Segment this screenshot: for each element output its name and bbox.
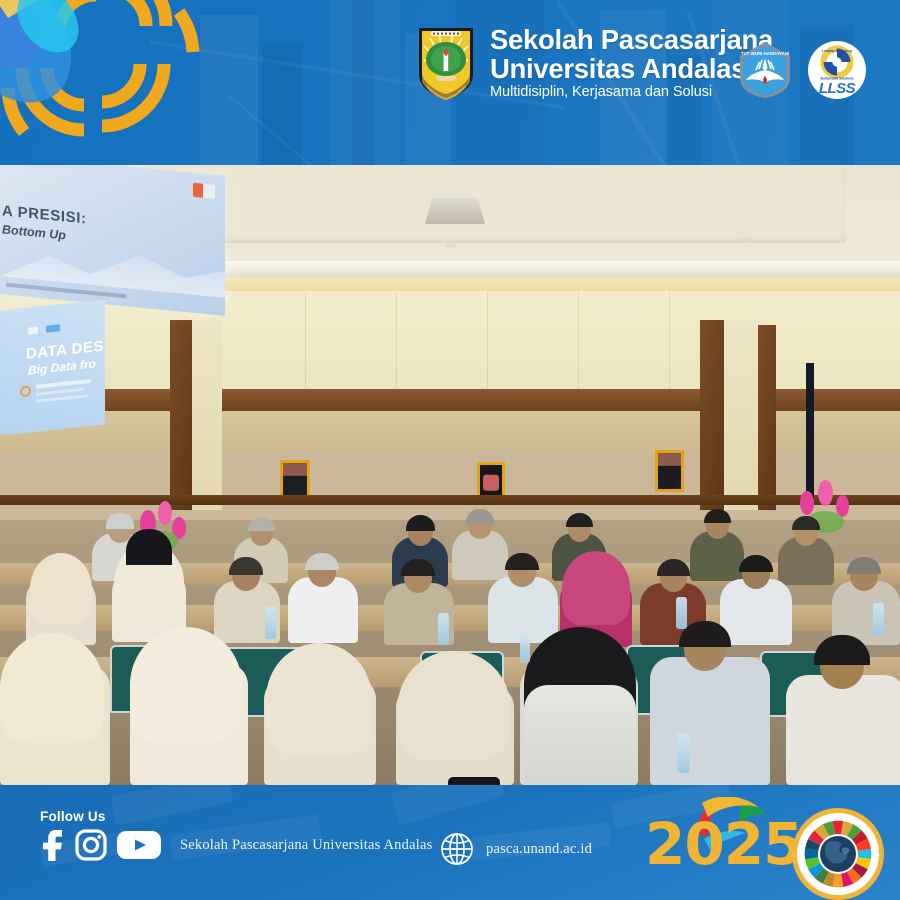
poster-footer: Follow Us Sekolah Pascasarjana Universit…: [0, 785, 900, 900]
website-url-text: pasca.unand.ac.id: [486, 841, 592, 858]
sdg-wheel-logo-icon: [790, 806, 886, 900]
header-title-line1: Sekolah Pascasarjana: [490, 26, 773, 54]
wall-segment: [192, 320, 222, 510]
swirl-decor-icon: [0, 0, 234, 165]
llss-logo-icon: Leading & Learning Sustainable Solutions…: [807, 40, 867, 100]
social-handle-text: Sekolah Pascasarjana Universitas Andalas: [180, 837, 432, 854]
universitas-andalas-crest-icon: [415, 24, 477, 102]
water-bottle: [265, 607, 276, 639]
youtube-icon[interactable]: [116, 829, 162, 861]
water-bottle: [873, 603, 884, 635]
wall-baseboard: [0, 495, 900, 505]
bag: [448, 777, 500, 785]
tut-wuri-handayani-logo-icon: TUT WURI HANDAYANI: [735, 40, 795, 100]
year-label: 2025: [645, 815, 802, 873]
slide-logo-icon: [193, 183, 215, 199]
ceiling-downlight: [742, 237, 753, 242]
ceiling-light-fixture: [425, 198, 485, 224]
header-brand-block: Sekolah Pascasarjana Universitas Andalas…: [415, 24, 773, 102]
left-projection-screen: A PRESISI: Bottom Up: [0, 165, 225, 316]
svg-text:LLSS: LLSS: [819, 80, 856, 97]
header-title-group: Sekolah Pascasarjana Universitas Andalas…: [490, 26, 773, 100]
poster-canvas: Sekolah Pascasarjana Universitas Andalas…: [0, 0, 900, 900]
wall-column: [170, 320, 192, 510]
svg-text:Leading & Learning: Leading & Learning: [822, 49, 852, 53]
water-bottle: [520, 635, 530, 663]
svg-text:TUT WURI HANDAYANI: TUT WURI HANDAYANI: [741, 51, 789, 56]
wall-column: [700, 320, 724, 510]
right-projection-screen: DATA DES Big Data fro: [0, 299, 105, 435]
globe-icon[interactable]: [440, 832, 474, 866]
follow-us-label: Follow Us: [40, 809, 106, 824]
ceiling-downlight: [445, 243, 457, 248]
social-links[interactable]: Sekolah Pascasarjana Universitas Andalas: [36, 828, 432, 862]
header-tagline: Multidisiplin, Kerjasama dan Solusi: [490, 85, 773, 100]
website-link[interactable]: pasca.unand.ac.id: [440, 832, 592, 866]
water-bottle: [677, 733, 690, 773]
screen-frame: [806, 363, 814, 498]
wall-column: [758, 325, 776, 510]
wall-segment: [724, 320, 758, 510]
water-bottle: [676, 597, 687, 629]
water-bottle: [438, 613, 449, 645]
poster-header: Sekolah Pascasarjana Universitas Andalas…: [0, 0, 900, 165]
vice-president-portrait: [655, 450, 684, 492]
left-screen-line2: Bottom Up: [2, 222, 66, 242]
instagram-icon[interactable]: [75, 829, 107, 861]
facebook-icon[interactable]: [36, 828, 66, 862]
header-badges: TUT WURI HANDAYANI Leading & Learning Su…: [735, 40, 867, 100]
header-title-line2: Universitas Andalas: [490, 55, 773, 83]
event-photo: A PRESISI: Bottom Up DATA DES Big Data f…: [0, 165, 900, 785]
